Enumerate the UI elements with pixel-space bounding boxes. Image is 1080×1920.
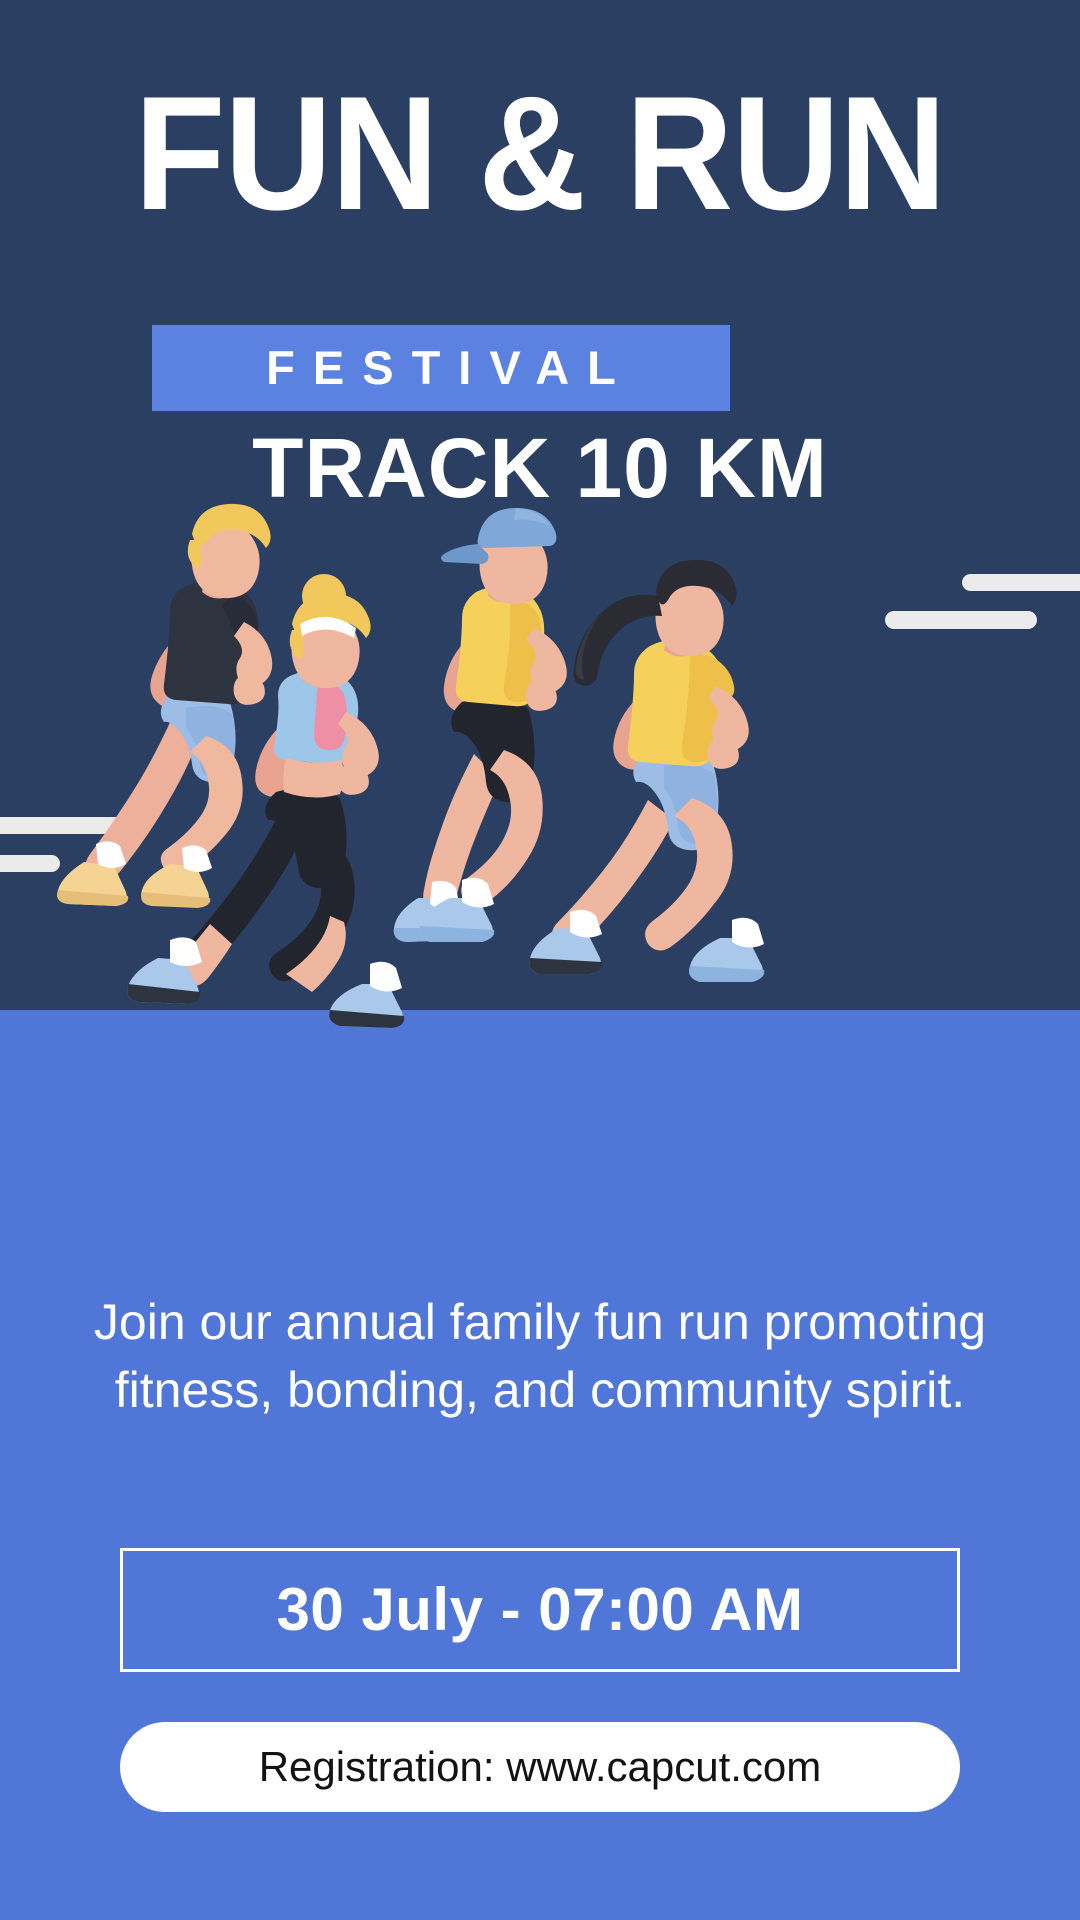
track-distance-label: TRACK 10 KM: [0, 420, 1080, 516]
runner-1: [57, 504, 272, 908]
date-time-box: 30 July - 07:00 AM: [120, 1548, 960, 1672]
date-time-label: 30 July - 07:00 AM: [123, 1551, 957, 1669]
tagline-text: Join our annual family fun run promoting…: [90, 1288, 990, 1424]
registration-label: Registration: www.capcut.com: [120, 1722, 960, 1812]
fun-run-poster: FUN & RUN FESTIVAL TRACK 10 KM Join our …: [0, 0, 1080, 1920]
runner-4: [529, 560, 764, 982]
registration-button[interactable]: Registration: www.capcut.com: [120, 1722, 960, 1812]
festival-band: FESTIVAL: [152, 325, 730, 411]
page-title: FUN & RUN: [43, 78, 1037, 230]
runners-illustration: [0, 500, 1080, 1060]
festival-label: FESTIVAL: [152, 325, 730, 411]
runner-3: [394, 508, 567, 942]
